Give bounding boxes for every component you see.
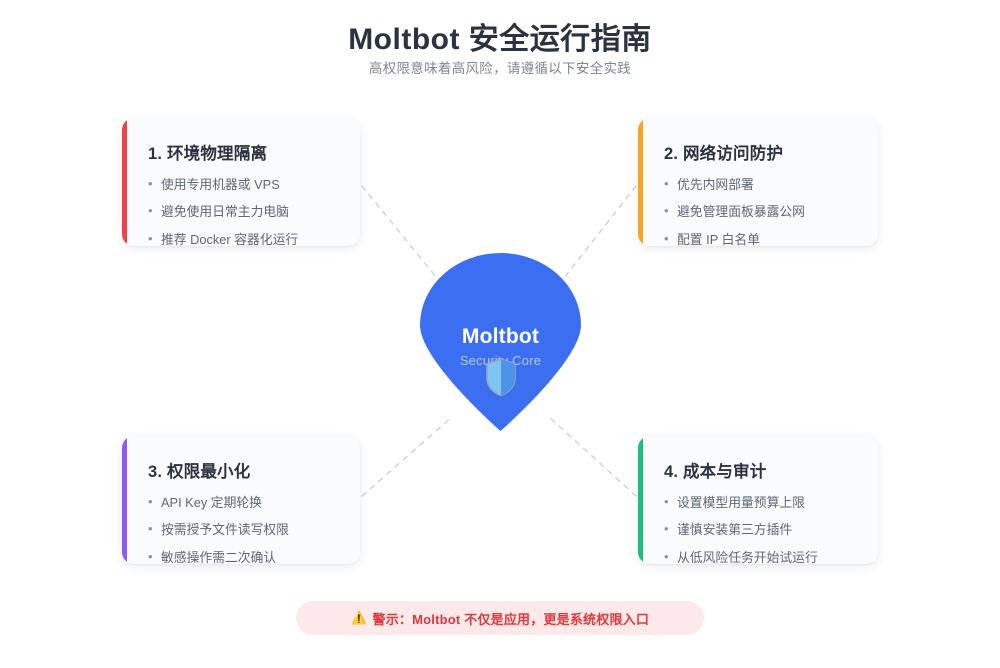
card-item-list: 使用专用机器或 VPS 避免使用日常主力电脑 推荐 Docker 容器化运行 — [148, 177, 340, 246]
list-item: 敏感操作需二次确认 — [148, 550, 340, 564]
list-item: 优先内网部署 — [664, 177, 858, 192]
list-item: 避免管理面板暴露公网 — [664, 204, 858, 219]
infographic-page: Moltbot 安全运行指南 高权限意味着高风险，请遵循以下安全实践 1. 环境… — [0, 0, 1000, 668]
card-least-privilege[interactable]: 3. 权限最小化 API Key 定期轮换 按需授予文件读写权限 敏感操作需二次… — [122, 436, 360, 564]
list-item: 避免使用日常主力电脑 — [148, 204, 340, 219]
card-item-list: 设置模型用量预算上限 谨慎安装第三方插件 从低风险任务开始试运行 — [664, 495, 858, 564]
card-environment-isolation[interactable]: 1. 环境物理隔离 使用专用机器或 VPS 避免使用日常主力电脑 推荐 Dock… — [122, 118, 360, 246]
card-accent-bar — [638, 436, 643, 564]
card-network-protection[interactable]: 2. 网络访问防护 优先内网部署 避免管理面板暴露公网 配置 IP 白名单 — [638, 118, 878, 246]
card-accent-bar — [122, 436, 127, 564]
warning-banner: ⚠️ 警示：Moltbot 不仅是应用，更是系统权限入口 — [296, 601, 704, 635]
card-title: 4. 成本与审计 — [664, 458, 858, 482]
warning-triangle-icon: ⚠️ — [351, 612, 367, 625]
security-core-node[interactable]: Moltbot Security Core — [418, 253, 583, 433]
card-accent-bar — [122, 118, 127, 246]
shield-icon — [484, 357, 518, 397]
warning-text: 警示：Moltbot 不仅是应用，更是系统权限入口 — [373, 609, 650, 628]
card-title: 1. 环境物理隔离 — [148, 140, 340, 164]
card-item-list: API Key 定期轮换 按需授予文件读写权限 敏感操作需二次确认 — [148, 495, 340, 564]
card-title: 2. 网络访问防护 — [664, 140, 858, 164]
list-item: 推荐 Docker 容器化运行 — [148, 232, 340, 246]
card-title: 3. 权限最小化 — [148, 458, 340, 482]
list-item: 谨慎安装第三方插件 — [664, 522, 858, 537]
list-item: 设置模型用量预算上限 — [664, 495, 858, 510]
card-item-list: 优先内网部署 避免管理面板暴露公网 配置 IP 白名单 — [664, 177, 858, 246]
list-item: 配置 IP 白名单 — [664, 232, 858, 246]
list-item: 从低风险任务开始试运行 — [664, 550, 858, 564]
list-item: API Key 定期轮换 — [148, 495, 340, 510]
list-item: 使用专用机器或 VPS — [148, 177, 340, 192]
core-title: Moltbot — [462, 325, 539, 349]
card-accent-bar — [638, 118, 643, 246]
list-item: 按需授予文件读写权限 — [148, 522, 340, 537]
card-cost-and-audit[interactable]: 4. 成本与审计 设置模型用量预算上限 谨慎安装第三方插件 从低风险任务开始试运… — [638, 436, 878, 564]
